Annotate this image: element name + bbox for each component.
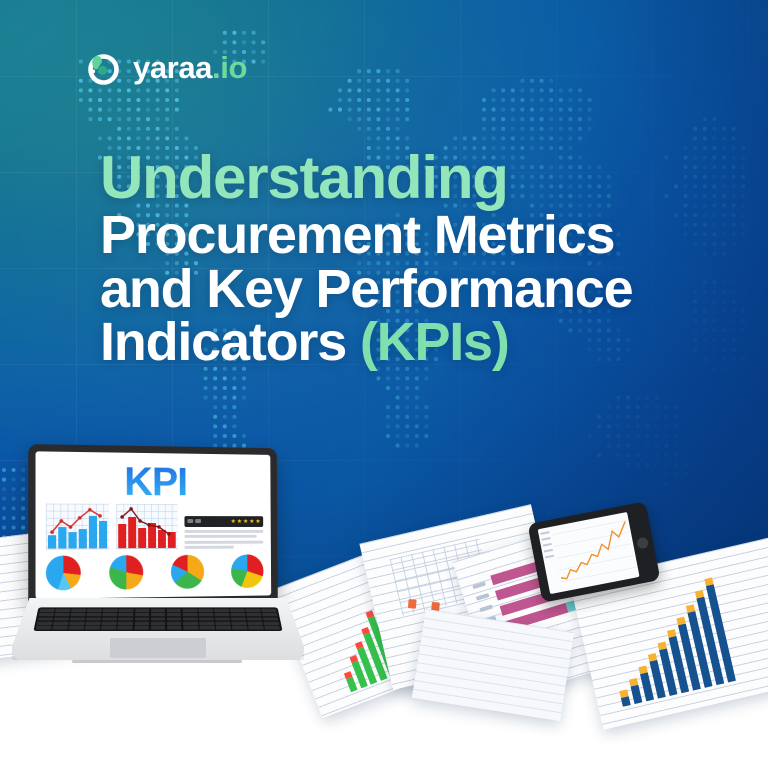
keyboard-key — [71, 609, 86, 612]
keyboard-key — [232, 626, 247, 629]
keyboard-key — [135, 613, 150, 616]
keyboard-key — [215, 622, 230, 625]
laptop-kpi-title: KPI — [36, 461, 271, 503]
kpi-promo-poster: yaraa.io Understanding Procurement Metri… — [0, 0, 768, 768]
laptop-keyboard[interactable] — [33, 607, 282, 631]
keyboard-key — [167, 613, 182, 616]
laptop-lid: KPI — [28, 444, 278, 608]
laptop-charts-row — [46, 505, 263, 550]
keyboard-key — [38, 617, 53, 620]
keyboard-key — [265, 626, 281, 629]
keyboard-key — [231, 622, 246, 625]
keyboard-key — [134, 622, 149, 625]
keyboard-key — [198, 609, 213, 612]
keyboard-key — [264, 622, 279, 625]
keyboard-key — [70, 617, 85, 620]
keyboard-key — [263, 617, 278, 620]
laptop-rating-block — [184, 516, 263, 549]
keyboard-key — [182, 609, 197, 612]
brand-tld: .io — [212, 50, 247, 85]
keyboard-row — [39, 609, 276, 612]
keyboard-key — [87, 609, 102, 612]
keyboard-key — [135, 609, 150, 612]
keyboard-key — [231, 617, 246, 620]
keyboard-key — [69, 622, 84, 625]
keyboard-key — [102, 617, 117, 620]
plot-marker — [408, 599, 417, 609]
keyboard-key — [85, 626, 100, 629]
keyboard-key — [215, 617, 230, 620]
headline-line-4-text: Indicators — [100, 312, 360, 372]
laptop-pie-3 — [171, 555, 204, 589]
keyboard-key — [39, 609, 54, 612]
keyboard-key — [55, 609, 70, 612]
keyboard-key — [71, 613, 86, 616]
keyboard-key — [261, 609, 276, 612]
keyboard-key — [118, 622, 133, 625]
placeholder-text-lines — [184, 529, 263, 548]
rating-bar — [184, 516, 263, 527]
keyboard-key — [216, 626, 231, 629]
laptop-pie-1 — [46, 555, 81, 590]
keyboard-key — [101, 626, 116, 629]
keyboard-key — [102, 622, 117, 625]
keyboard-key — [151, 613, 166, 616]
keyboard-key — [167, 626, 182, 629]
keyboard-key — [248, 622, 263, 625]
keyboard-key — [118, 626, 133, 629]
laptop-red-bar-chart — [116, 504, 178, 549]
keyboard-key — [167, 617, 182, 620]
keyboard-key — [183, 626, 198, 629]
keyboard-row — [39, 613, 278, 616]
keyboard-key — [199, 626, 214, 629]
keyboard-key — [214, 613, 229, 616]
keyboard-key — [53, 622, 68, 625]
keyboard-key — [103, 609, 118, 612]
droplet-ring-icon — [82, 47, 122, 87]
laptop-device[interactable]: KPI — [12, 446, 304, 672]
keyboard-key — [183, 617, 198, 620]
headline-kpis-highlight: (KPIs) — [360, 312, 509, 372]
keyboard-key — [230, 609, 245, 612]
keyboard-key — [246, 613, 261, 616]
laptop-screen: KPI — [36, 451, 272, 599]
keyboard-key — [69, 626, 84, 629]
keyboard-key — [167, 622, 182, 625]
keyboard-key — [36, 626, 52, 629]
keyboard-key — [199, 617, 214, 620]
keyboard-key — [52, 626, 68, 629]
keyboard-key — [87, 613, 102, 616]
brand-name: yaraa.io — [133, 52, 247, 83]
keyboard-key — [151, 609, 166, 612]
rating-dash — [195, 519, 201, 523]
keyboard-key — [248, 626, 264, 629]
keyboard-key — [167, 609, 182, 612]
keyboard-key — [37, 622, 52, 625]
trend-line — [116, 504, 178, 548]
keyboard-key — [198, 613, 213, 616]
brand-logo[interactable]: yaraa.io — [82, 47, 247, 87]
star-rating — [231, 519, 261, 524]
keyboard-row — [37, 622, 280, 625]
headline-line-2: Procurement Metrics — [100, 209, 700, 262]
keyboard-key — [86, 617, 101, 620]
keyboard-key — [247, 617, 262, 620]
keyboard-key — [183, 622, 198, 625]
keyboard-row — [36, 626, 280, 629]
keyboard-key — [262, 613, 277, 616]
keyboard-key — [151, 617, 166, 620]
laptop-pie-row — [46, 554, 264, 590]
headline-line-3: and Key Performance — [100, 263, 700, 316]
keyboard-key — [54, 617, 69, 620]
brand-name-text: yaraa — [133, 50, 212, 85]
keyboard-key — [134, 617, 149, 620]
keyboard-key — [214, 609, 229, 612]
keyboard-key — [119, 609, 134, 612]
keyboard-key — [118, 617, 133, 620]
keyboard-key — [103, 613, 118, 616]
laptop-trackpad[interactable] — [110, 638, 206, 658]
keyboard-key — [151, 622, 166, 625]
keyboard-key — [86, 622, 101, 625]
keyboard-key — [134, 626, 149, 629]
keyboard-row — [38, 617, 279, 620]
keyboard-key — [230, 613, 245, 616]
keyboard-key — [55, 613, 70, 616]
keyboard-key — [39, 613, 54, 616]
trend-line — [46, 504, 109, 549]
laptop-pie-4 — [231, 554, 264, 588]
page-title: Understanding Procurement Metrics and Ke… — [100, 148, 700, 370]
keyboard-key — [183, 613, 198, 616]
keyboard-key — [246, 609, 261, 612]
rating-dash — [187, 519, 193, 523]
laptop-blue-bar-chart — [46, 504, 109, 550]
keyboard-key — [151, 626, 166, 629]
laptop-front-edge — [72, 660, 242, 663]
keyboard-key — [199, 622, 214, 625]
headline-line-4: Indicators (KPIs) — [100, 316, 700, 369]
keyboard-key — [119, 613, 134, 616]
laptop-pie-2 — [109, 555, 143, 590]
headline-line-1: Understanding — [100, 148, 700, 207]
